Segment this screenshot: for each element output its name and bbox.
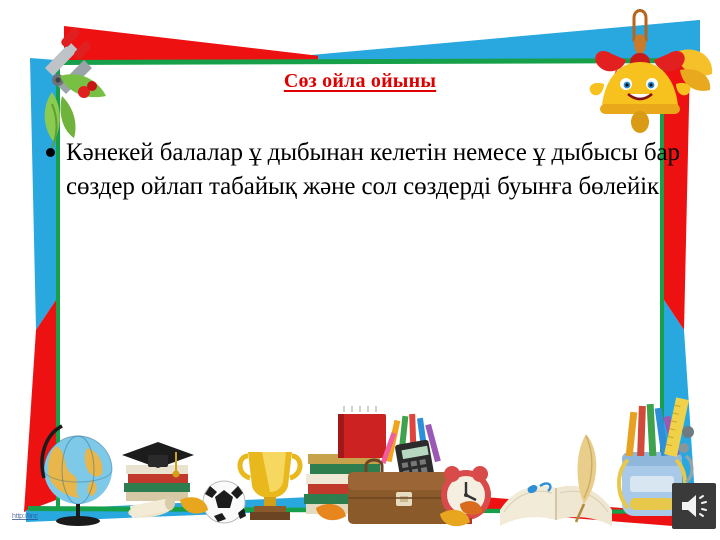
left-ribbon-red: [24, 300, 56, 512]
top-ribbon-blue: [300, 20, 700, 60]
right-ribbon-green-line: [660, 60, 664, 510]
book-stack-icon: [304, 406, 441, 514]
bullet-text: Кәнекей балалар ұ дыбынан келетін немесе…: [66, 136, 686, 204]
globe-icon: [42, 426, 112, 526]
bottom-ribbon-red: [420, 492, 698, 528]
top-ribbon-blue-shape: [318, 20, 700, 61]
speaker-icon: [678, 491, 710, 521]
presentation-slide: Сөз ойла ойыны Кәнекей балалар ұ дыбынан…: [0, 0, 720, 540]
trophy-icon: [240, 452, 300, 520]
page-title: Сөз ойла ойыны: [0, 70, 720, 92]
colored-pencils-icon: [381, 414, 441, 464]
open-book-icon: [500, 483, 612, 526]
calculator-icon: [395, 439, 436, 486]
top-ribbon-red-shape: [65, 27, 318, 61]
soccer-ball-icon: [203, 481, 246, 523]
top-ribbon-red-main: [65, 27, 318, 61]
briefcase-icon: [348, 460, 460, 524]
top-ribbon-red: [64, 26, 320, 60]
ruler-icon: [664, 397, 689, 456]
right-ribbon-blue: [664, 300, 696, 512]
bottom-ribbon-blue: [26, 492, 420, 522]
graduation-cap-books-icon: [122, 442, 194, 520]
top-ribbon-red-body: [65, 20, 700, 56]
quill-pen-icon: [576, 434, 596, 522]
left-ribbon-green-line: [56, 60, 60, 510]
audio-speaker-button[interactable]: [672, 483, 716, 529]
bullet-dot-icon: [46, 148, 55, 157]
autumn-leaves-icon: [180, 497, 482, 526]
bullet-list: Кәнекей балалар ұ дыбынан келетін немесе…: [46, 136, 686, 204]
bottom-ribbon-green-line: [28, 506, 698, 514]
alarm-clock-icon: [441, 466, 491, 524]
top-ribbon-green-line: [62, 58, 702, 65]
source-url-watermark: http://linc: [12, 513, 38, 520]
